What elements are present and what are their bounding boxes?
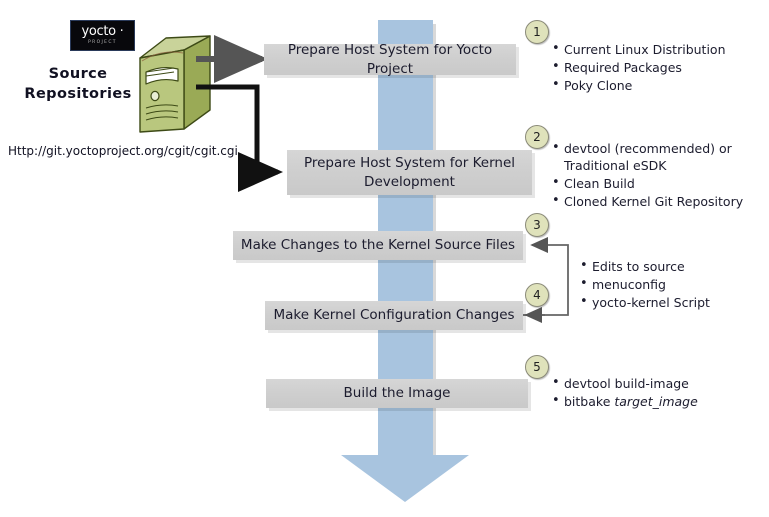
step-number-3: 3 xyxy=(525,213,549,237)
list-item: devtool (recommended) or Traditional eSD… xyxy=(552,140,767,174)
list-item: yocto-kernel Script xyxy=(580,294,769,311)
step-number-5: 5 xyxy=(525,355,549,379)
source-label-line-2: Repositories xyxy=(18,84,138,104)
source-label-line-1: Source xyxy=(18,64,138,84)
process-box-step-3[interactable]: Make Changes to the Kernel Source Files xyxy=(233,231,523,260)
list-item: Clean Build xyxy=(552,175,767,192)
bullet-list-step-2: devtool (recommended) or Traditional eSD… xyxy=(552,140,767,211)
list-item: Current Linux Distribution xyxy=(552,41,762,58)
list-item: menuconfig xyxy=(580,276,769,293)
main-flow-arrow-head xyxy=(341,455,469,502)
yocto-logo-subtext: PROJECT xyxy=(88,39,117,46)
list-item: Required Packages xyxy=(552,59,762,76)
list-item: devtool build-image xyxy=(552,375,752,392)
diagram-canvas: yocto · PROJECT Source Repositories Http… xyxy=(0,0,769,517)
yocto-logo-wordmark: yocto · xyxy=(81,25,123,38)
list-item: bitbake target_image xyxy=(552,393,752,410)
process-box-step-2[interactable]: Prepare Host System for Kernel Developme… xyxy=(287,150,532,195)
source-repository-url[interactable]: Http://git.yoctoproject.org/cgit/cgit.cg… xyxy=(8,144,238,158)
bullet-list-step-1: Current Linux Distribution Required Pack… xyxy=(552,41,762,95)
list-item: Edits to source xyxy=(580,258,769,275)
process-box-step-1[interactable]: Prepare Host System for Yocto Project xyxy=(264,44,516,75)
source-repositories-label: Source Repositories xyxy=(18,64,138,104)
process-box-step-4[interactable]: Make Kernel Configuration Changes xyxy=(265,301,523,330)
list-item: Poky Clone xyxy=(552,77,762,94)
server-tower-icon xyxy=(134,32,212,137)
step-number-2: 2 xyxy=(525,125,549,149)
bullet-list-step-5: devtool build-image bitbake target_image xyxy=(552,375,752,411)
yocto-project-logo: yocto · PROJECT xyxy=(70,20,135,51)
step-number-4: 4 xyxy=(525,283,549,307)
step-number-1: 1 xyxy=(525,20,549,44)
list-item: Cloned Kernel Git Repository xyxy=(552,193,767,210)
bullet-list-steps-3-and-4: Edits to source menuconfig yocto-kernel … xyxy=(580,258,769,312)
process-box-step-5[interactable]: Build the Image xyxy=(266,379,528,408)
